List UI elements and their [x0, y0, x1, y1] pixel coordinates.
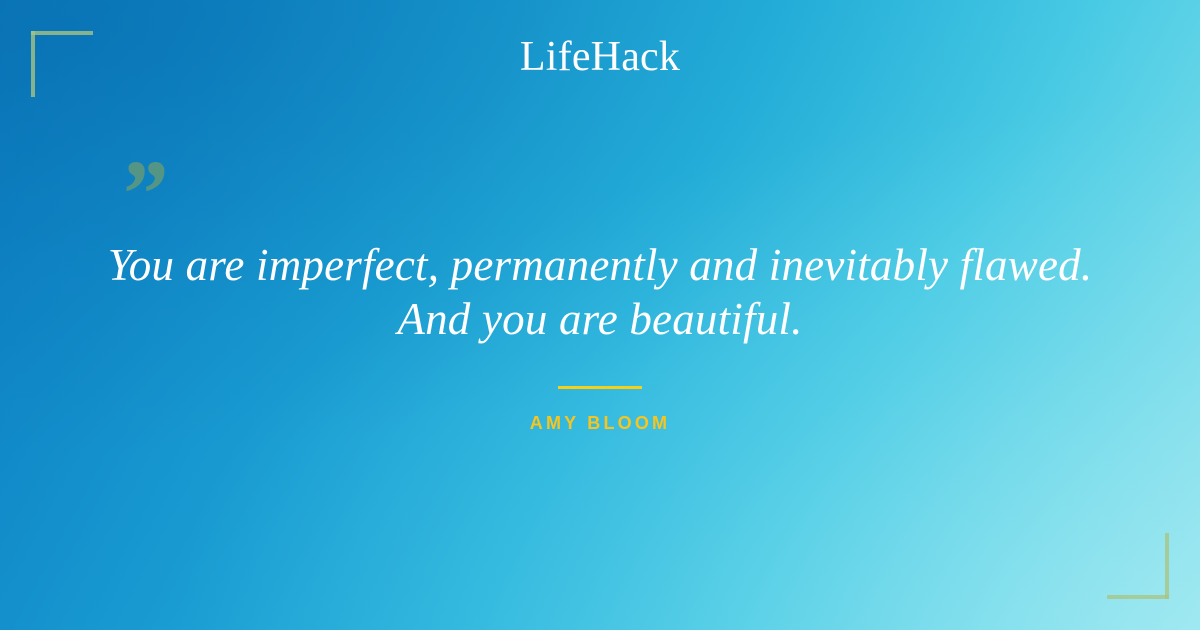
corner-bracket-bottom-right-vertical-arm: [1165, 533, 1169, 599]
corner-bracket-bottom-right-horizontal-arm: [1107, 595, 1169, 599]
quote-text: You are imperfect, permanently and inevi…: [100, 238, 1100, 346]
attribution-divider: [558, 386, 642, 389]
quote-author: AMY BLOOM: [0, 414, 1200, 432]
corner-bracket-bottom-right: [1107, 533, 1169, 599]
corner-bracket-top-left-horizontal-arm: [31, 31, 93, 35]
quotation-mark-icon: ”: [118, 146, 188, 226]
quote-card: LifeHack ” You are imperfect, permanentl…: [0, 0, 1200, 630]
brand-logo: LifeHack: [0, 36, 1200, 78]
